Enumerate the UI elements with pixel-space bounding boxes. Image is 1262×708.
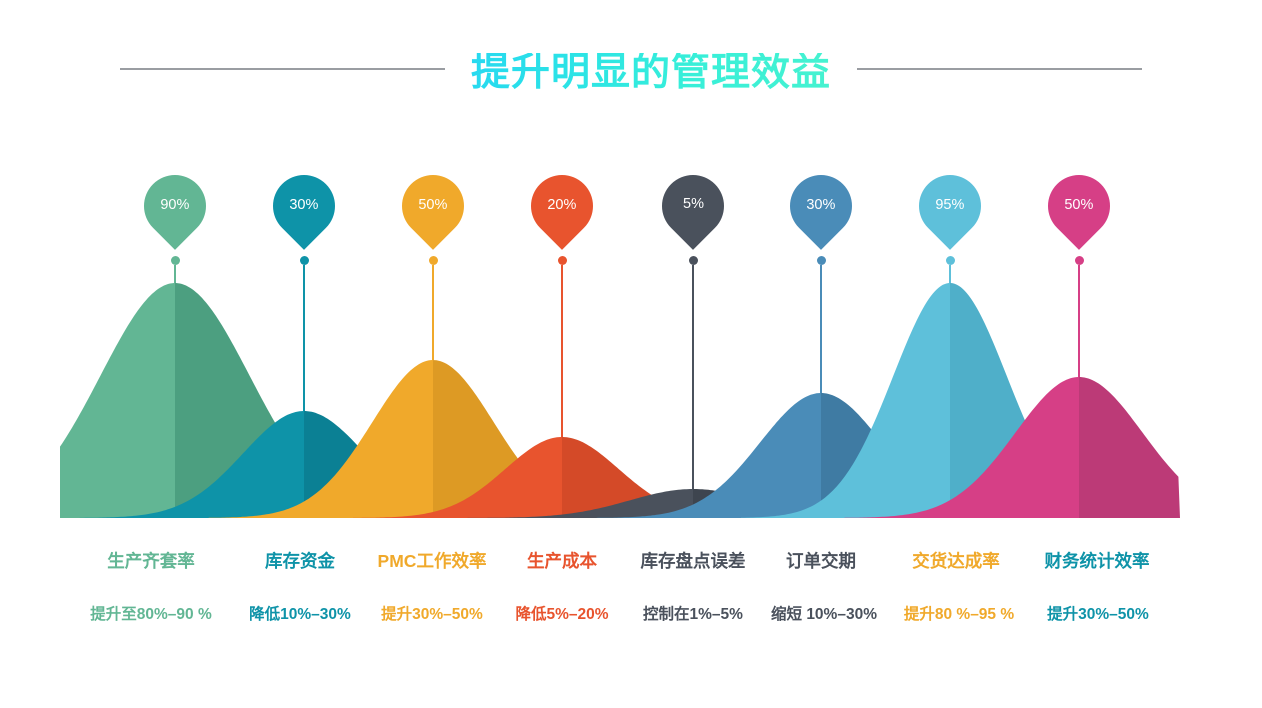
stem-line [692,265,693,489]
stem-line [303,265,304,411]
curve-6-right [597,393,1046,518]
category-subtitle-2: 降低10%–30% [249,607,351,623]
balloon-value: 90% [160,197,189,212]
curve-1-left [60,283,450,518]
balloon-pin-icon[interactable]: 95% [906,162,994,250]
stem-line [174,265,175,283]
balloon-pin-icon[interactable]: 50% [1035,162,1123,250]
category-subtitle-5: 控制在1%–5% [643,607,743,623]
balloon-value: 20% [547,197,576,212]
curve-5-right [458,489,927,518]
title-rule-left [120,68,445,70]
curve-4-left [353,437,771,518]
curve-3-left [209,360,658,518]
curve-4-right [353,437,771,518]
category-subtitle-6: 缩短 10%–30% [771,607,877,623]
balloon-value: 30% [806,197,835,212]
stem-line [1078,265,1079,377]
stem-dot-icon [171,256,180,265]
slide-root: 提升明显的管理效益 90%30%50%20%5%30%95%50% 生产齐套率提… [0,0,1262,708]
stem-dot-icon [817,256,826,265]
balloon-value: 95% [935,197,964,212]
balloon-pin-icon[interactable]: 90% [131,162,219,250]
stem-line [561,265,562,437]
curve-2-left [80,411,529,518]
bell-curve-chart [0,0,1262,708]
category-label-3: PMC工作效率 [378,553,487,571]
balloon-pin-icon[interactable]: 30% [260,162,348,250]
curve-3-right [209,360,658,518]
curve-6-left [597,393,1046,518]
stem-dot-icon [1075,256,1084,265]
category-subtitle-4: 降低5%–20% [515,607,608,623]
stem-line [432,265,433,360]
curve-8-right [844,377,1180,518]
title-rule-right [857,68,1142,70]
curve-2-right [80,411,529,518]
stem-line [820,265,821,393]
curve-8-left [844,377,1180,518]
category-label-5: 库存盘点误差 [641,553,746,571]
category-label-2: 库存资金 [265,553,335,571]
balloon-value: 50% [418,197,447,212]
stem-dot-icon [946,256,955,265]
category-label-6: 订单交期 [786,553,856,571]
balloon-pin-icon[interactable]: 50% [389,162,477,250]
curve-5-left [458,489,927,518]
curve-1-right [60,283,450,518]
stem-line [949,265,950,283]
stem-dot-icon [689,256,698,265]
curve-7-right [741,283,1159,518]
balloon-pin-icon[interactable]: 5% [649,162,737,250]
category-label-4: 生产成本 [527,553,597,571]
balloon-value: 50% [1064,197,1093,212]
category-subtitle-3: 提升30%–50% [381,607,483,623]
stem-dot-icon [300,256,309,265]
page-title: 提升明显的管理效益 [471,53,831,92]
category-label-8: 财务统计效率 [1045,553,1150,571]
balloon-value: 30% [289,197,318,212]
category-subtitle-8: 提升30%–50% [1047,607,1149,623]
category-label-7: 交货达成率 [912,553,1000,571]
category-subtitle-7: 提升80 %–95 % [904,607,1014,623]
balloon-pin-icon[interactable]: 30% [777,162,865,250]
category-subtitle-1: 提升至80%–90 % [90,607,211,623]
balloon-pin-icon[interactable]: 20% [518,162,606,250]
stem-dot-icon [429,256,438,265]
title-bar: 提升明显的管理效益 [0,44,1262,100]
category-label-1: 生产齐套率 [107,553,195,571]
stem-dot-icon [558,256,567,265]
curve-7-left [741,283,1159,518]
balloon-value: 5% [683,197,704,212]
